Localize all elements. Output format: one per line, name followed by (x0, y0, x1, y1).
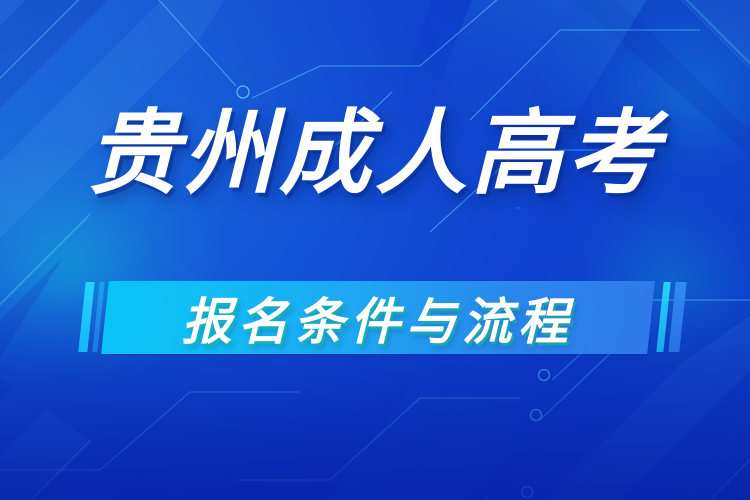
poster-canvas: 贵州成人高考 报名条件与流程 (0, 0, 750, 500)
vignette-overlay (0, 0, 750, 500)
